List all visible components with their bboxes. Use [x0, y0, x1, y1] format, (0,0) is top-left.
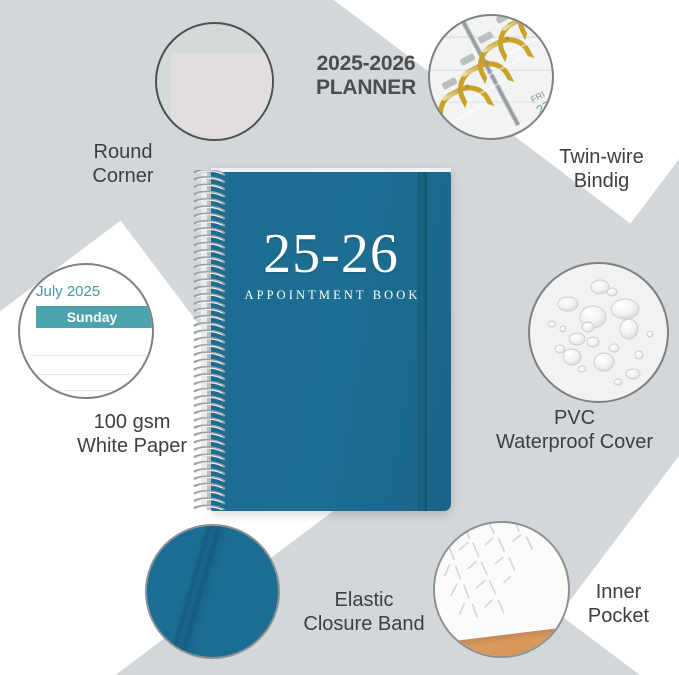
page-title: 2025-2026 PLANNER — [286, 52, 446, 101]
callout-label-inner-pocket: Inner Pocket — [562, 580, 675, 629]
label-line1: Inner — [562, 580, 675, 604]
book-front-cover: 25-26 APPOINTMENT BOOK — [211, 168, 451, 511]
calendar-page-icon: July 2025 Sunday — [30, 283, 154, 393]
book-top-edge — [211, 168, 451, 172]
cover-elastic-band — [418, 168, 427, 511]
label-line1: Twin-wire — [524, 145, 679, 169]
handwriting-scribble-icon — [433, 521, 570, 643]
label-line2: Closure Band — [278, 612, 450, 636]
calendar-rule-lines — [30, 328, 154, 399]
page-title-line2: PLANNER — [286, 76, 446, 100]
callout-label-twin-wire-binding: Twin-wire Bindig — [524, 145, 679, 194]
calendar-month-label: July 2025 — [36, 283, 100, 300]
callout-label-pvc-waterproof-cover: PVC Waterproof Cover — [470, 406, 679, 455]
label-line1: PVC — [470, 406, 679, 430]
inner-pocket-photo-icon — [433, 521, 570, 643]
rounded-corner-card-icon — [171, 53, 274, 141]
callout-label-elastic-closure-band: Elastic Closure Band — [278, 588, 450, 637]
calendar-day-header: Sunday — [36, 306, 154, 328]
label-line1: Round — [60, 140, 186, 164]
callout-label-round-corner: Round Corner — [60, 140, 186, 189]
label-line2: Corner — [60, 164, 186, 188]
product-infographic: 2025-2026 PLANNER Round Corner FRI 27 Tw… — [0, 0, 679, 675]
page-title-line1: 2025-2026 — [317, 52, 416, 75]
cover-subtitle-text: APPOINTMENT BOOK — [211, 288, 451, 303]
callout-white-paper: July 2025 Sunday — [18, 263, 154, 399]
callout-inner-pocket — [433, 521, 570, 658]
callout-elastic-closure-band — [145, 524, 280, 659]
callout-round-corner — [155, 22, 274, 141]
label-line2: Bindig — [524, 169, 679, 193]
label-line1: 100 gsm — [52, 410, 212, 434]
spiral-binding-icon — [193, 170, 227, 510]
label-line2: White Paper — [52, 434, 212, 458]
water-droplets-icon — [530, 264, 669, 403]
cover-year-text: 25-26 — [211, 226, 451, 282]
cover-title-group: 25-26 APPOINTMENT BOOK — [211, 226, 451, 303]
callout-pvc-waterproof-cover — [528, 262, 669, 403]
elastic-band-icon — [158, 524, 238, 659]
label-line1: Elastic — [278, 588, 450, 612]
product-image-planner: 25-26 APPOINTMENT BOOK — [193, 168, 451, 511]
label-line2: Waterproof Cover — [470, 430, 679, 454]
callout-label-white-paper: 100 gsm White Paper — [52, 410, 212, 459]
label-line2: Pocket — [562, 604, 675, 628]
callout-twin-wire-binding: FRI 27 — [428, 14, 554, 140]
